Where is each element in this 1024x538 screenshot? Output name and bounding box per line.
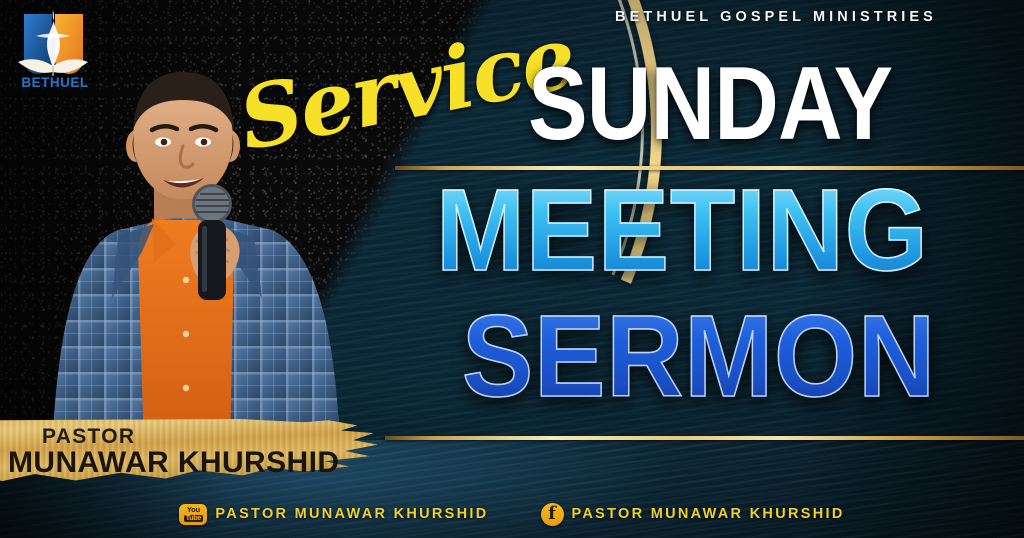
social-item-youtube[interactable]: You Tube PASTOR MUNAWAR KHURSHID (179, 504, 488, 525)
speaker-name: MUNAWAR KHURSHID (8, 446, 339, 480)
facebook-icon-glyph: f (548, 505, 556, 523)
facebook-icon[interactable]: f (541, 503, 564, 526)
youtube-handle: PASTOR MUNAWAR KHURSHID (215, 506, 488, 522)
speaker-name-banner: PASTOR MUNAWAR KHURSHID (0, 419, 394, 483)
gold-divider-bottom (385, 436, 1024, 440)
sunday-service-flyer: BETHUEL BETHUEL GOSPEL MINISTRIES Servic… (0, 0, 1024, 538)
ministry-brand-line: BETHUEL GOSPEL MINISTRIES (566, 9, 986, 25)
headline-sunday: SUNDAY (528, 52, 892, 156)
pastor-photo (26, 34, 356, 454)
youtube-icon-top-text: You (187, 506, 200, 514)
youtube-icon-bottom-text: Tube (184, 515, 203, 522)
social-item-facebook[interactable]: f PASTOR MUNAWAR KHURSHID (541, 503, 845, 526)
youtube-icon[interactable]: You Tube (179, 504, 207, 525)
headline-sermon: SERMON (462, 298, 936, 414)
facebook-handle: PASTOR MUNAWAR KHURSHID (572, 506, 845, 522)
headline-meeting: MEETING (436, 172, 929, 288)
social-links-row: You Tube PASTOR MUNAWAR KHURSHID f PASTO… (0, 499, 1024, 529)
